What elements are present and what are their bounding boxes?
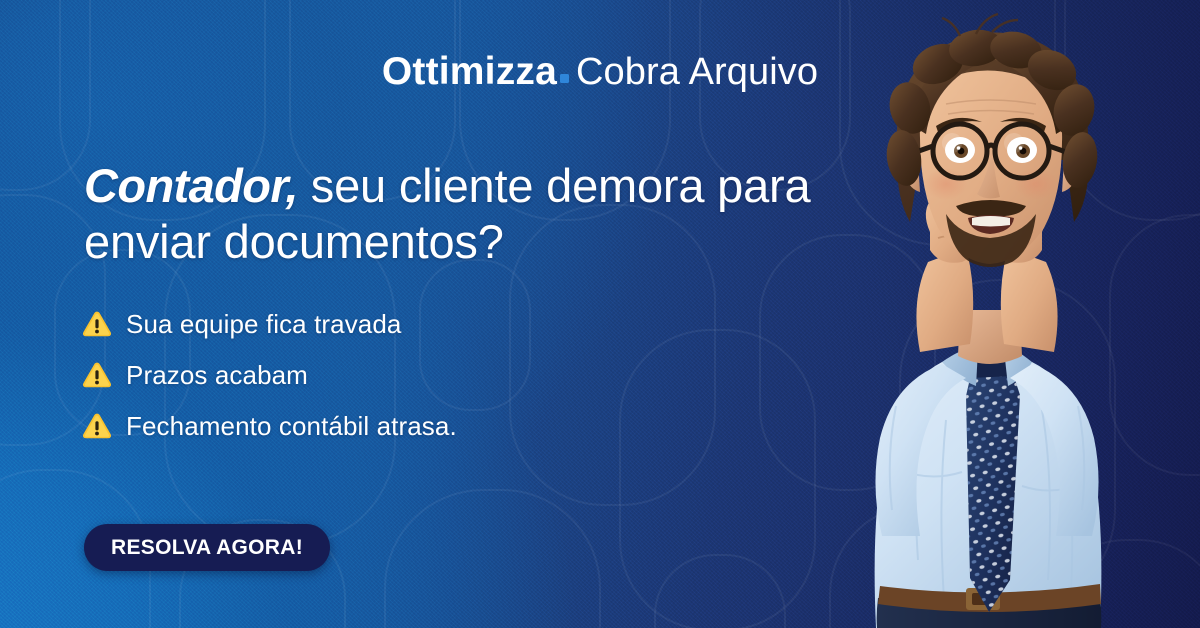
list-item: Sua equipe fica travada bbox=[82, 310, 457, 337]
logo-product-name: Cobra Arquivo bbox=[576, 51, 818, 93]
headline-emphasis: Contador, bbox=[84, 159, 298, 212]
list-item-label: Fechamento contábil atrasa. bbox=[126, 413, 457, 439]
promo-banner: OttimizzaCobra Arquivo Contador, seu cli… bbox=[0, 0, 1200, 628]
list-item-label: Prazos acabam bbox=[126, 362, 308, 388]
page-title: Contador, seu cliente demora para enviar… bbox=[84, 158, 824, 270]
list-item: Prazos acabam bbox=[82, 361, 457, 388]
warning-triangle-icon bbox=[82, 361, 112, 388]
logo-dot-icon bbox=[560, 74, 569, 83]
logo-brand-name: Ottimizza bbox=[382, 50, 557, 93]
pain-point-list: Sua equipe fica travada Prazos acabam Fe… bbox=[82, 310, 457, 439]
resolve-now-button[interactable]: RESOLVA AGORA! bbox=[84, 524, 330, 571]
warning-triangle-icon bbox=[82, 310, 112, 337]
list-item-label: Sua equipe fica travada bbox=[126, 311, 402, 337]
list-item: Fechamento contábil atrasa. bbox=[82, 412, 457, 439]
warning-triangle-icon bbox=[82, 412, 112, 439]
logo-lockup: OttimizzaCobra Arquivo bbox=[0, 52, 1200, 91]
